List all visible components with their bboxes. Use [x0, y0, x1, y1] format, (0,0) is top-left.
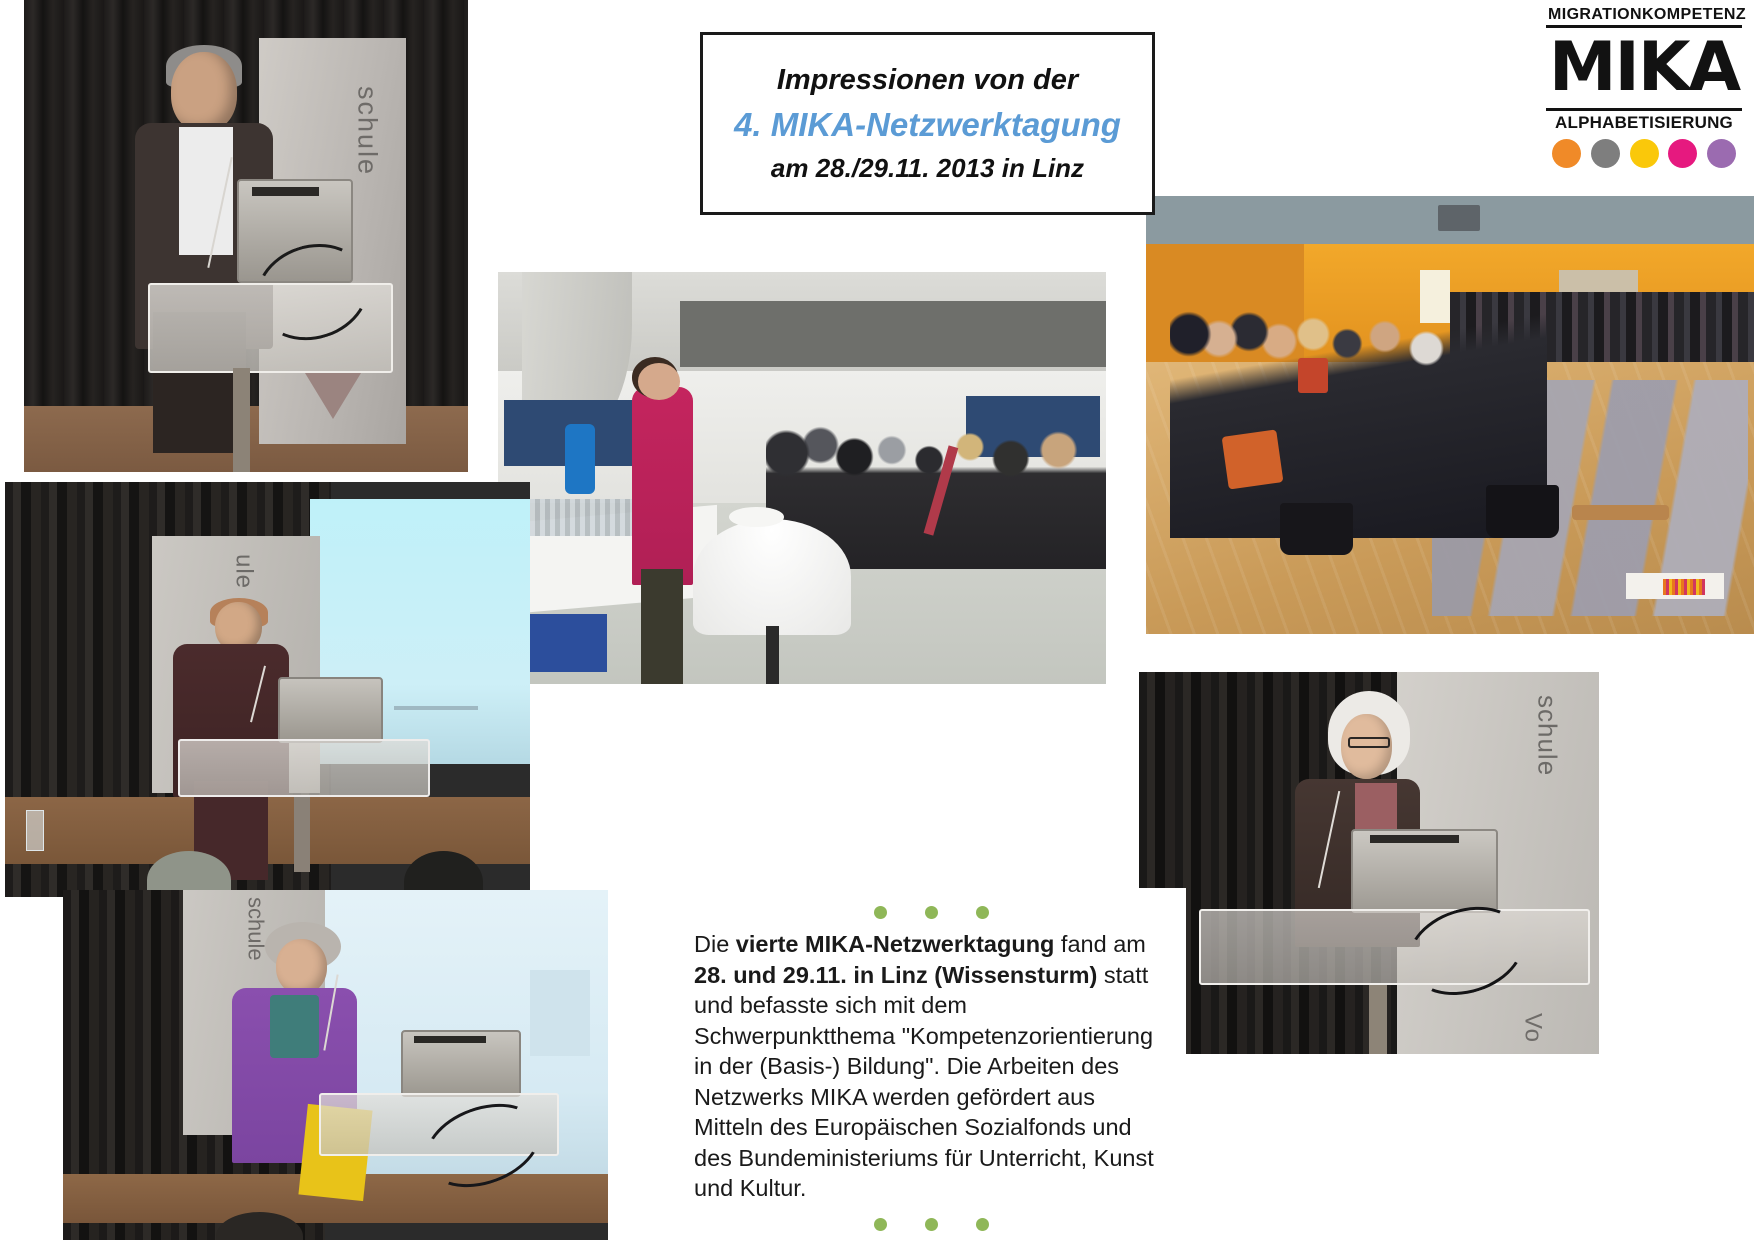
logo-label-migration: MIGRATION [1548, 6, 1642, 24]
lectern-stem [1369, 985, 1387, 1054]
laptop [1351, 829, 1498, 913]
logo-dot-magenta [1668, 139, 1697, 168]
speaker-head [171, 52, 238, 132]
standing-table [693, 519, 851, 634]
logo-label-kompetenz: KOMPETENZ [1642, 6, 1746, 24]
green-dot [925, 906, 938, 919]
projection-slide-shape [530, 970, 590, 1056]
banner-text: schule [242, 897, 268, 961]
banner-text: ule [229, 554, 257, 589]
laptop [278, 677, 383, 743]
attendee-red-scarf [1298, 358, 1328, 393]
attendee-bag-right [1486, 485, 1559, 538]
person-pink-sweater [632, 387, 693, 585]
speaker-head [276, 939, 328, 995]
poster-canvas: schule [0, 0, 1754, 1240]
photo-scene: ule [5, 482, 530, 897]
foyer-balcony [680, 301, 1106, 367]
dot-separator-bottom [694, 1204, 1168, 1231]
photo-audience [1146, 196, 1754, 634]
logo-wordmark-wrap: MIKA [1546, 31, 1742, 105]
title-line-date-location: am 28./29.11. 2013 in Linz [771, 153, 1084, 184]
ceiling-projector [1438, 205, 1481, 231]
green-dot [874, 906, 887, 919]
banner-text: schule [1532, 695, 1563, 776]
banner-text: schule [351, 86, 382, 176]
photo-speaker-woman-purple: schule [63, 890, 608, 1240]
logo-dot-row [1544, 133, 1744, 168]
title-line-impressionen: Impressionen von der [777, 64, 1078, 97]
photo-speaker-white-hair: schule Vo [1139, 672, 1599, 1054]
banner-text-secondary: Vo [1518, 1013, 1546, 1043]
photo-scene: schule [24, 0, 468, 472]
photo-speaker-man-podium: schule [24, 0, 468, 472]
water-glass [26, 810, 44, 852]
photo-speaker-woman-brown: ule [5, 482, 530, 897]
logo-dot-yellow [1630, 139, 1659, 168]
speaker-scarf [270, 995, 319, 1058]
standing-table-stem [766, 626, 779, 684]
attendee-orange-trousers [1222, 429, 1283, 489]
lectern-stem [294, 797, 310, 872]
photo-scene: schule Vo [1139, 672, 1599, 1054]
banner-arrow-icon [305, 373, 361, 419]
laptop [401, 1030, 521, 1097]
photo-scene: schule [63, 890, 608, 1240]
person-blue-jacket [565, 424, 595, 494]
photo-scene [498, 272, 1106, 684]
green-dot [874, 1218, 887, 1231]
green-dot [976, 906, 989, 919]
green-dot [925, 1218, 938, 1231]
projection-screen-text [394, 706, 478, 710]
title-box: Impressionen von der 4. MIKA-Netzwerktag… [700, 32, 1155, 215]
glass-lectern [1199, 909, 1590, 985]
logo-label-alphabetisierung: ALPHABETISIERUNG [1544, 111, 1744, 133]
photo-scene [1146, 196, 1754, 634]
title-line-event-name: 4. MIKA-Netzwerktagung [734, 106, 1121, 144]
logo-dot-purple [1707, 139, 1736, 168]
eyeglasses-icon [1348, 737, 1389, 748]
description-text-block: Die vierte MIKA-Netzwerktagung fand am 2… [676, 888, 1186, 1240]
attendee-bag-left [1280, 503, 1353, 556]
mika-logo: MIGRATION KOMPETENZ MIKA ALPHABETISIERUN… [1544, 6, 1744, 161]
lectern-stem [233, 368, 251, 472]
logo-dot-orange [1552, 139, 1581, 168]
description-paragraph: Die vierte MIKA-Netzwerktagung fand am 2… [694, 929, 1168, 1204]
logo-top-labels: MIGRATION KOMPETENZ [1544, 6, 1744, 25]
chair-armrest [1572, 505, 1669, 520]
dot-separator-top [694, 902, 1168, 929]
logo-wordmark: MIKA [1546, 31, 1742, 105]
person-pink-trousers [641, 569, 684, 684]
glass-lectern [178, 739, 430, 797]
logo-dot-grey [1591, 139, 1620, 168]
photo-coffee-break [498, 272, 1106, 684]
programme-logo-icon [1663, 579, 1706, 594]
person-pink-head [638, 363, 681, 400]
green-dot [976, 1218, 989, 1231]
